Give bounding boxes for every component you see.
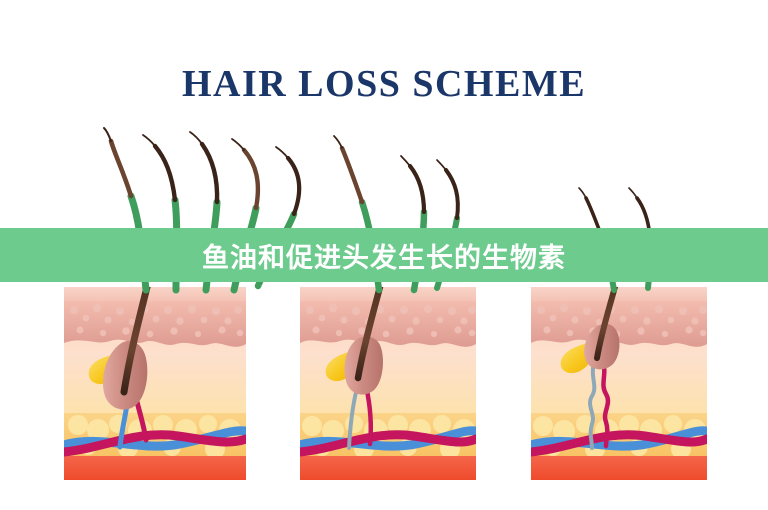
stratum-corneum-layer [64,287,246,301]
epidermis-layer [64,301,246,347]
healthy-scalp-panel [64,128,299,480]
illustration-canvas: HAIR LOSS SCHEME 鱼油和促进头发生长的生物素 [0,0,768,510]
stratum-corneum-layer [300,287,476,301]
green-banner: 鱼油和促进头发生长的生物素 [0,228,768,282]
page-title: HAIR LOSS SCHEME [0,62,768,106]
muscle-layer [64,456,246,480]
muscle-layer [531,456,707,480]
thinning-scalp-panel [300,136,476,480]
banner-text: 鱼油和促进头发生长的生物素 [202,236,566,275]
muscle-layer [300,456,476,480]
stratum-corneum-layer [531,287,707,301]
